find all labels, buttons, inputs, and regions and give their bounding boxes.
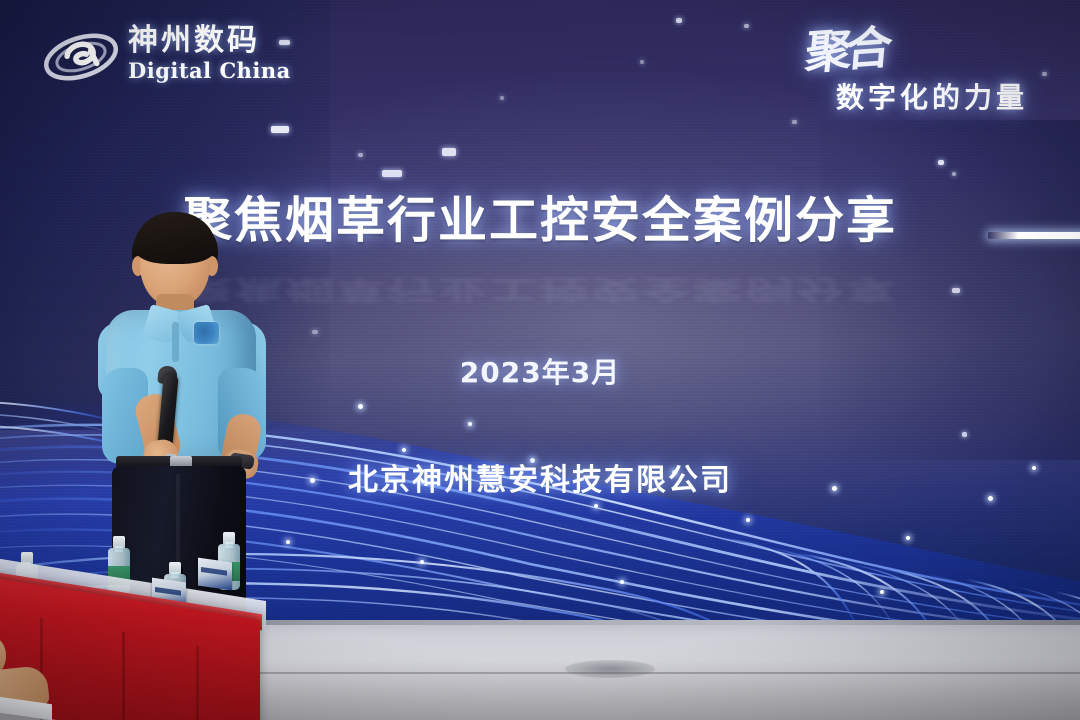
foreground-table-area [0, 540, 290, 720]
name-card [198, 558, 232, 591]
digital-china-cn-name: 神州数码 [128, 24, 291, 58]
presenter-hair [134, 212, 216, 264]
digital-china-wordmark: 神州数码 Digital China [128, 24, 291, 84]
event-logo: 聚合 数字化的力量 [788, 14, 1054, 114]
shirt-chest-logo-icon [194, 322, 219, 344]
digital-china-logo: 神州数码 Digital China [42, 18, 312, 100]
name-card-stripe [201, 567, 227, 576]
digital-china-en-name: Digital China [128, 58, 291, 84]
light-streak-accent [988, 232, 1080, 239]
table-cloth-fold [122, 632, 125, 720]
table-cloth-fold [196, 646, 199, 720]
stage-floor-scuff [565, 660, 655, 678]
event-tagline: 数字化的力量 [836, 76, 1028, 116]
conference-stage-photo: 聚焦烟草行业工控安全案例分享 聚焦烟草行业工控安全案例分享 2023年3月 北京… [0, 0, 1080, 720]
event-calligraphy-title: 聚合 [803, 11, 890, 82]
presenter-shirt-placket [172, 322, 179, 362]
digital-china-swirl-icon [42, 26, 120, 88]
name-card-stripe [155, 587, 181, 596]
